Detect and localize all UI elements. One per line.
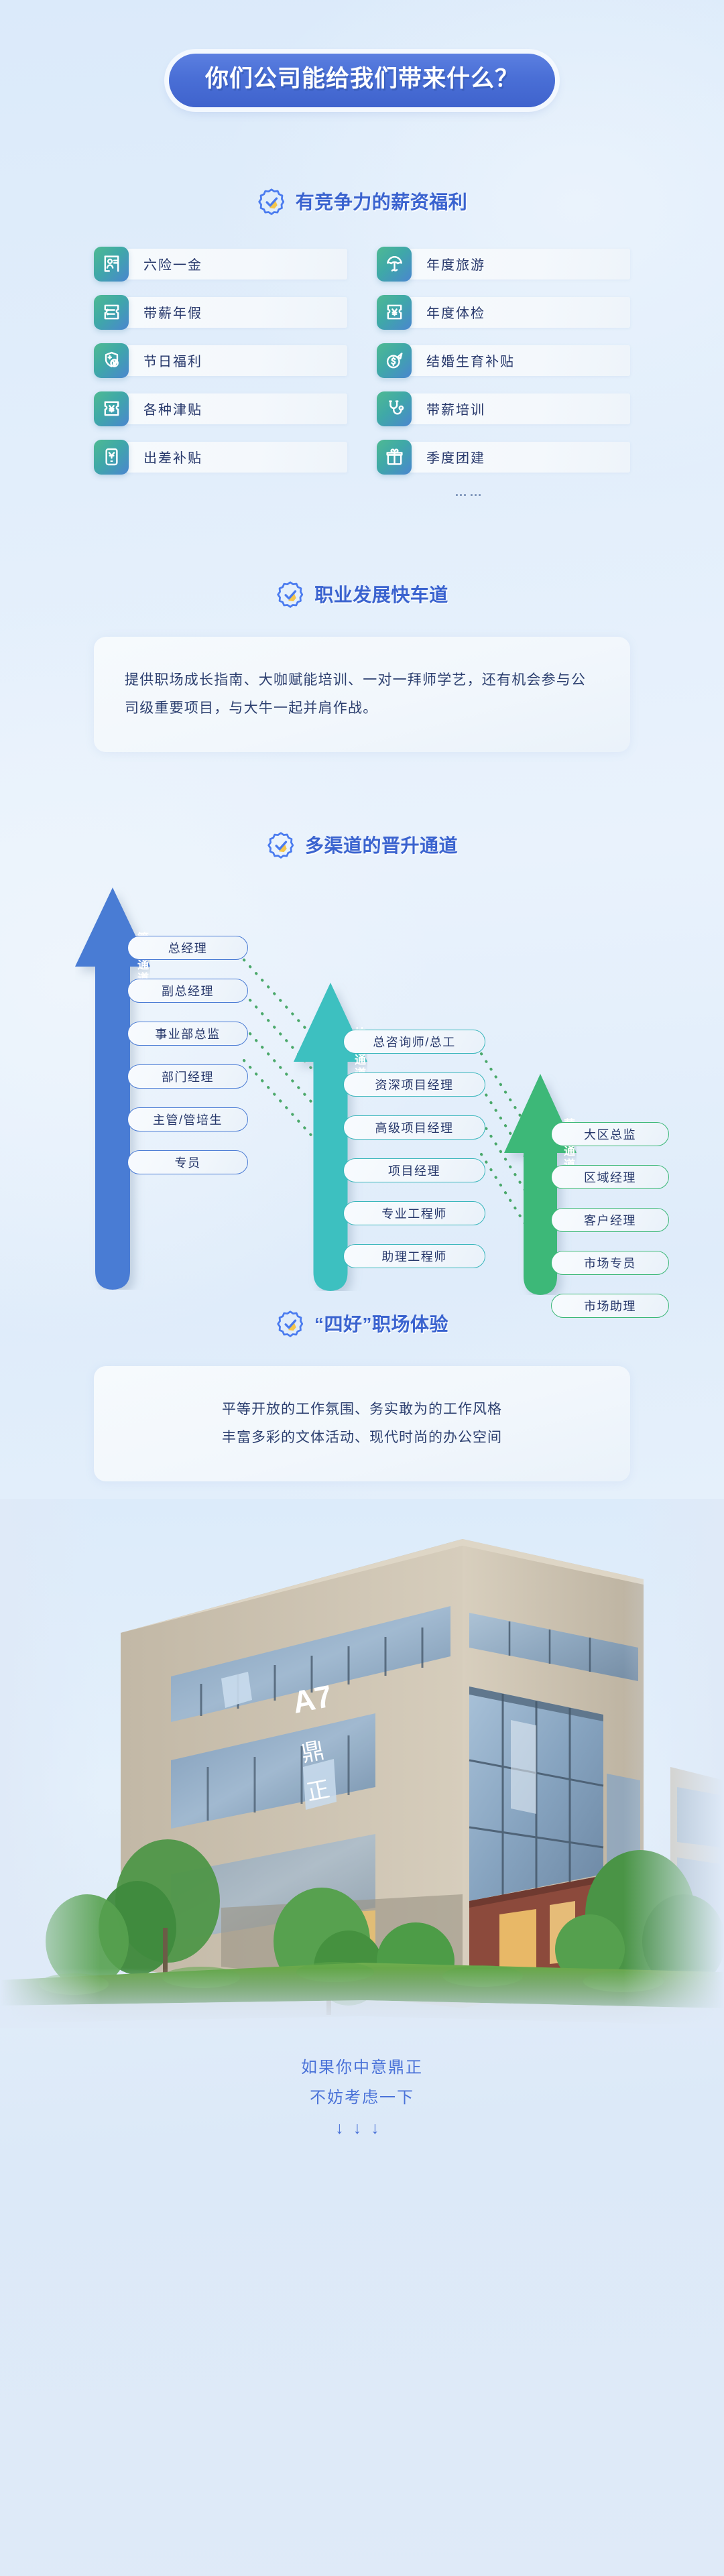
verified-badge-icon: [276, 1310, 305, 1339]
career-description-text: 提供职场成长指南、大咖赋能培训、一对一拜师学艺，还有机会参与公司级重要项目，与大…: [125, 666, 599, 723]
ladder-position-chip: 总经理: [127, 936, 248, 960]
ladder-position-chip: 市场专员: [551, 1251, 669, 1275]
ticket-list-icon: [94, 295, 129, 330]
verified-badge-icon: [257, 188, 286, 217]
ladder-position-chip: 高级项目经理: [343, 1115, 485, 1140]
down-arrows-icon: ↓↓↓: [0, 2119, 724, 2138]
ladder-position-chip: 客户经理: [551, 1208, 669, 1232]
workplace-line-2: 丰富多彩的文体活动、现代时尚的办公空间: [125, 1424, 599, 1452]
gift-box-icon: [377, 440, 412, 475]
benefit-card: 带薪培训: [377, 391, 630, 426]
career-description-panel: 提供职场成长指南、大咖赋能培训、一对一拜师学艺，还有机会参与公司级重要项目，与大…: [94, 637, 630, 752]
section-title-promotion: 多渠道的晋升通道: [305, 837, 458, 855]
benefits-ellipsis: ……: [94, 485, 630, 500]
benefit-label: 季度团建: [426, 447, 485, 467]
phone-ticket-icon: [94, 440, 129, 475]
benefit-label: 各种津贴: [143, 399, 202, 418]
benefit-label: 带薪年假: [143, 302, 202, 322]
ladder-position-chip: 助理工程师: [343, 1244, 485, 1268]
svg-text:鼎: 鼎: [299, 1737, 326, 1767]
ladder-position-chip: 资深项目经理: [343, 1072, 485, 1097]
benefit-card: 年度体检: [377, 295, 630, 330]
poster-header: 你们公司能给我们带来什么？: [0, 0, 724, 107]
svg-text:正: 正: [304, 1776, 332, 1806]
section-title-workplace: “四好”职场体验: [314, 1315, 448, 1334]
verified-badge-icon: [276, 580, 305, 610]
id-card-icon: [94, 247, 129, 282]
yen-ticket-icon: [94, 391, 129, 426]
benefit-card: 年度旅游: [377, 247, 630, 282]
benefit-label: 出差补贴: [143, 447, 202, 467]
workplace-line-1: 平等开放的工作氛围、务实敢为的工作风格: [125, 1396, 599, 1424]
beach-umbrella-icon: [377, 247, 412, 282]
page-title: 你们公司能给我们带来什么？: [205, 66, 519, 93]
verified-badge-icon: [266, 831, 296, 861]
benefits-grid: 六险一金年度旅游带薪年假年度体检节日福利结婚生育补贴各种津贴带薪培训出差补贴季度…: [94, 247, 630, 475]
ladder-position-chip: 专业工程师: [343, 1201, 485, 1225]
benefit-card: 结婚生育补贴: [377, 343, 630, 378]
promotion-ladder-diagram: 管理通道总经理副总经理事业部总监部门经理主管/管培生专员技术通道总咨询师/总工资…: [0, 881, 724, 1310]
footer-line-2: 不妨考虑一下: [0, 2083, 724, 2113]
section-title-benefits: 有竞争力的薪资福利: [296, 193, 468, 212]
office-building-photo: A7 鼎 正: [0, 1499, 724, 2028]
section-heading-promotion: 多渠道的晋升通道: [0, 831, 724, 861]
ladder-position-chip: 市场助理: [551, 1294, 669, 1318]
benefit-label: 年度旅游: [426, 254, 485, 273]
benefit-label: 六险一金: [143, 254, 202, 273]
benefit-card: 六险一金: [94, 247, 347, 282]
ladder-position-chip: 部门经理: [127, 1064, 248, 1089]
ladder-position-chip: 总咨询师/总工: [343, 1030, 485, 1054]
benefit-card: 各种津贴: [94, 391, 347, 426]
ladder-position-chip: 副总经理: [127, 979, 248, 1003]
benefit-card: 季度团建: [377, 440, 630, 475]
stethoscope-icon: [377, 391, 412, 426]
ladder-position-chip: 大区总监: [551, 1122, 669, 1146]
ladder-position-chip: 项目经理: [343, 1158, 485, 1182]
benefit-label: 带薪培训: [426, 399, 485, 418]
benefit-label: 节日福利: [143, 351, 202, 370]
dollar-coin-plane-icon: [377, 343, 412, 378]
benefit-card: 节日福利: [94, 343, 347, 378]
ladder-position-chip: 事业部总监: [127, 1022, 248, 1046]
benefit-label: 结婚生育补贴: [426, 351, 515, 370]
section-heading-career: 职业发展快车道: [0, 580, 724, 610]
ladder-position-chip: 主管/管培生: [127, 1107, 248, 1131]
benefit-card: 带薪年假: [94, 295, 347, 330]
section-heading-benefits: 有竞争力的薪资福利: [0, 188, 724, 217]
benefit-label: 年度体检: [426, 302, 485, 322]
section-title-career: 职业发展快车道: [314, 586, 448, 605]
ladder-position-chip: 区域经理: [551, 1165, 669, 1189]
yen-ticket-icon: [377, 295, 412, 330]
poster-footer: 如果你中意鼎正 不妨考虑一下 ↓↓↓: [0, 2028, 724, 2138]
workplace-description-panel: 平等开放的工作氛围、务实敢为的工作风格 丰富多彩的文体活动、现代时尚的办公空间: [94, 1366, 630, 1481]
svg-text:A7: A7: [290, 1678, 335, 1719]
benefit-card: 出差补贴: [94, 440, 347, 475]
footer-line-1: 如果你中意鼎正: [0, 2052, 724, 2083]
ladder-position-chip: 专员: [127, 1150, 248, 1174]
shield-yen-icon: [94, 343, 129, 378]
header-pill: 你们公司能给我们带来什么？: [169, 54, 555, 107]
